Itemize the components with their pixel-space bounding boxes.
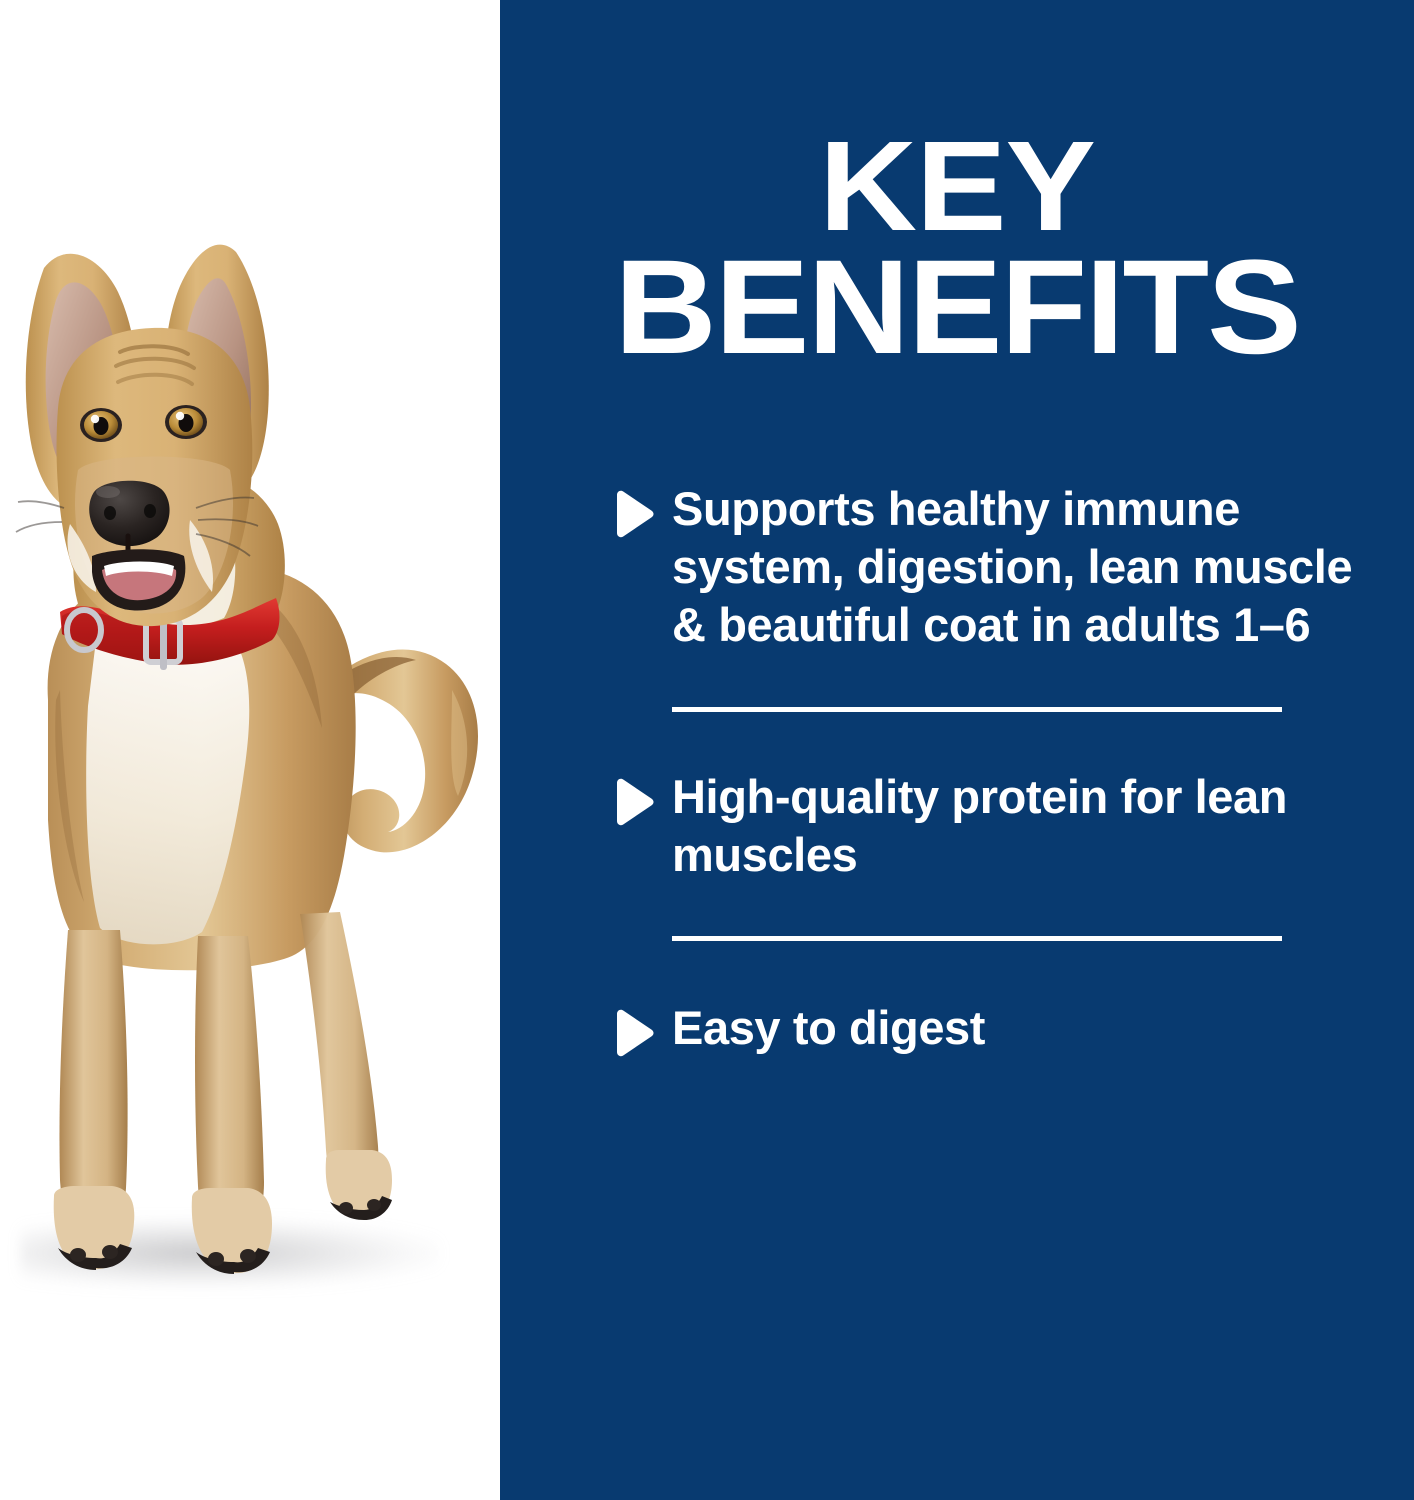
benefit-item-high-quality-protein: High-quality protein for lean muscles [610,768,1370,884]
key-benefits-product-panel: KEY BENEFITS Supports healthy immune sys… [0,0,1414,1500]
benefit-item-easy-to-digest: Easy to digest [610,999,1370,1057]
page-title-line-1: KEY [473,128,1414,246]
triangle-right-icon [610,480,672,538]
page-title: KEY BENEFITS [473,128,1414,369]
dog-photo [0,0,500,1500]
triangle-right-icon [610,768,672,826]
triangle-right-icon [610,999,672,1057]
dog-paw-front-left [54,1186,135,1270]
benefit-text: Supports healthy immune system, digestio… [672,480,1370,653]
dog-photo-panel [0,0,500,1500]
dog-illustration [0,0,500,1500]
dog-head [16,245,269,627]
dog-legs [54,912,392,1274]
benefits-list: Supports healthy immune system, digestio… [610,480,1370,1057]
dog-eye-left [80,408,122,442]
benefits-panel: KEY BENEFITS Supports healthy immune sys… [500,0,1414,1500]
dog-paw-rear [326,1150,392,1220]
dog-eye-right [165,405,207,439]
dog-paw-front-right [192,1188,272,1274]
page-title-line-2: BENEFITS [473,246,1414,369]
benefit-text: High-quality protein for lean muscles [672,768,1370,884]
benefit-text: Easy to digest [672,999,1370,1057]
benefit-item-immune-digestion-muscle-coat: Supports healthy immune system, digestio… [610,480,1370,653]
